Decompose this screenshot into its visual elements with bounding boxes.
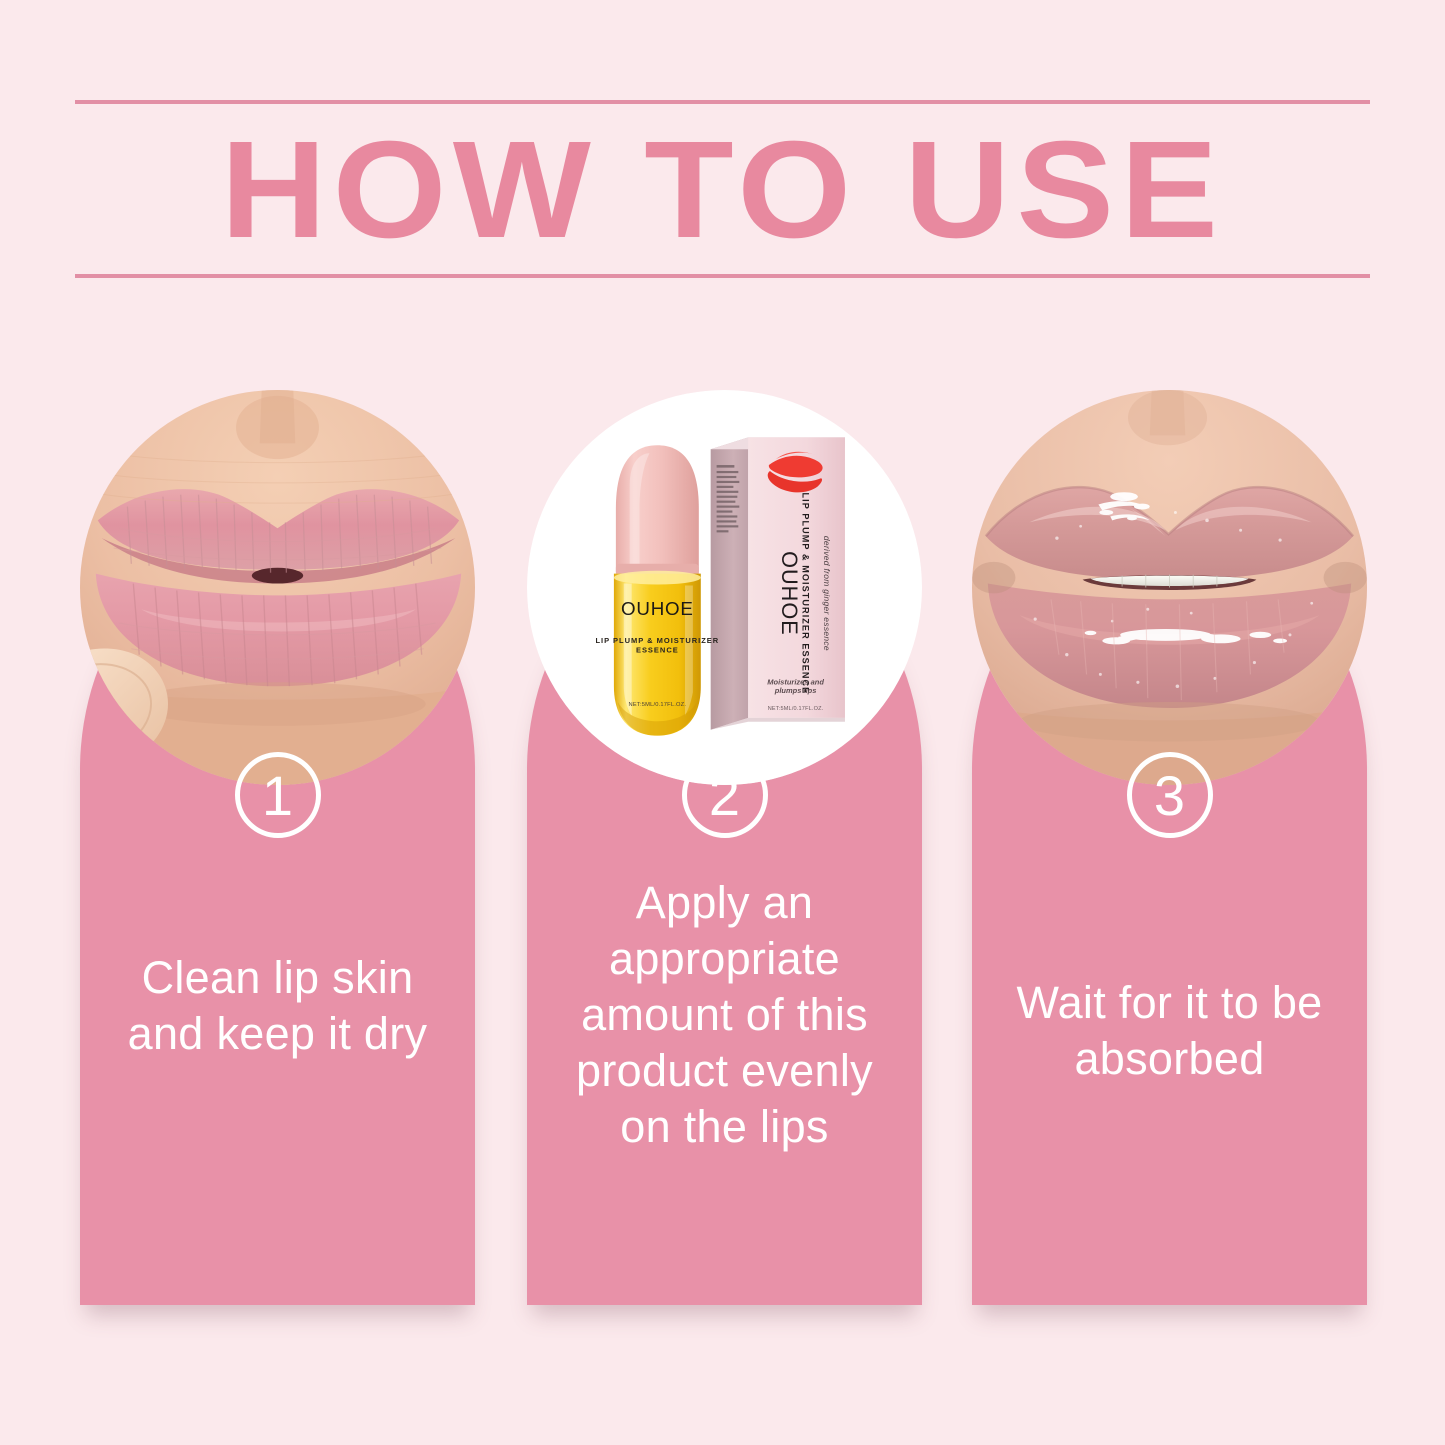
step-number-badge: 2 (682, 752, 768, 838)
step-number-badge: 3 (1127, 752, 1213, 838)
svg-text:OUHOE: OUHOE (777, 551, 802, 636)
svg-text:Moisturizes and: Moisturizes and (767, 677, 824, 686)
product-bottle-and-box-photo: OUHOE LIP PLUMP & MOISTURIZER ESSENCE de… (527, 390, 922, 785)
step-number-badge: 1 (235, 752, 321, 838)
svg-text:NET:5ML/0.17FL.OZ.: NET:5ML/0.17FL.OZ. (768, 706, 824, 712)
svg-text:ESSENCE: ESSENCE (636, 646, 679, 655)
step-card-3: 3 Wait for it to be absorbed (972, 530, 1367, 1305)
product-scene: OUHOE LIP PLUMP & MOISTURIZER ESSENCE de… (527, 390, 922, 785)
svg-text:NET:5ML/0.17FL.OZ.: NET:5ML/0.17FL.OZ. (629, 702, 687, 708)
product-bottle: OUHOE LIP PLUMP & MOISTURIZER ESSENCE NE… (595, 445, 719, 735)
product-box: OUHOE LIP PLUMP & MOISTURIZER ESSENCE de… (711, 437, 845, 729)
svg-text:plumps lips: plumps lips (774, 686, 817, 695)
dry-cracked-lips-photo (80, 390, 475, 785)
svg-text:LIP PLUMP & MOISTURIZER: LIP PLUMP & MOISTURIZER (595, 636, 719, 645)
steps-row: 1 Clean lip skin and keep it dry (0, 0, 1445, 1445)
svg-text:OUHOE: OUHOE (621, 598, 694, 619)
step-card-2: OUHOE LIP PLUMP & MOISTURIZER ESSENCE de… (527, 530, 922, 1305)
svg-text:derived from ginger essence: derived from ginger essence (822, 536, 832, 651)
step-card-1: 1 Clean lip skin and keep it dry (80, 530, 475, 1305)
step-caption: Wait for it to be absorbed (994, 975, 1345, 1087)
glossy-plump-lips-photo (972, 390, 1367, 785)
step-caption: Apply an appropriate amount of this prod… (549, 875, 900, 1155)
step-caption: Clean lip skin and keep it dry (102, 950, 453, 1062)
svg-text:LIP PLUMP & MOISTURIZER ESSENC: LIP PLUMP & MOISTURIZER ESSENCE (801, 493, 811, 695)
